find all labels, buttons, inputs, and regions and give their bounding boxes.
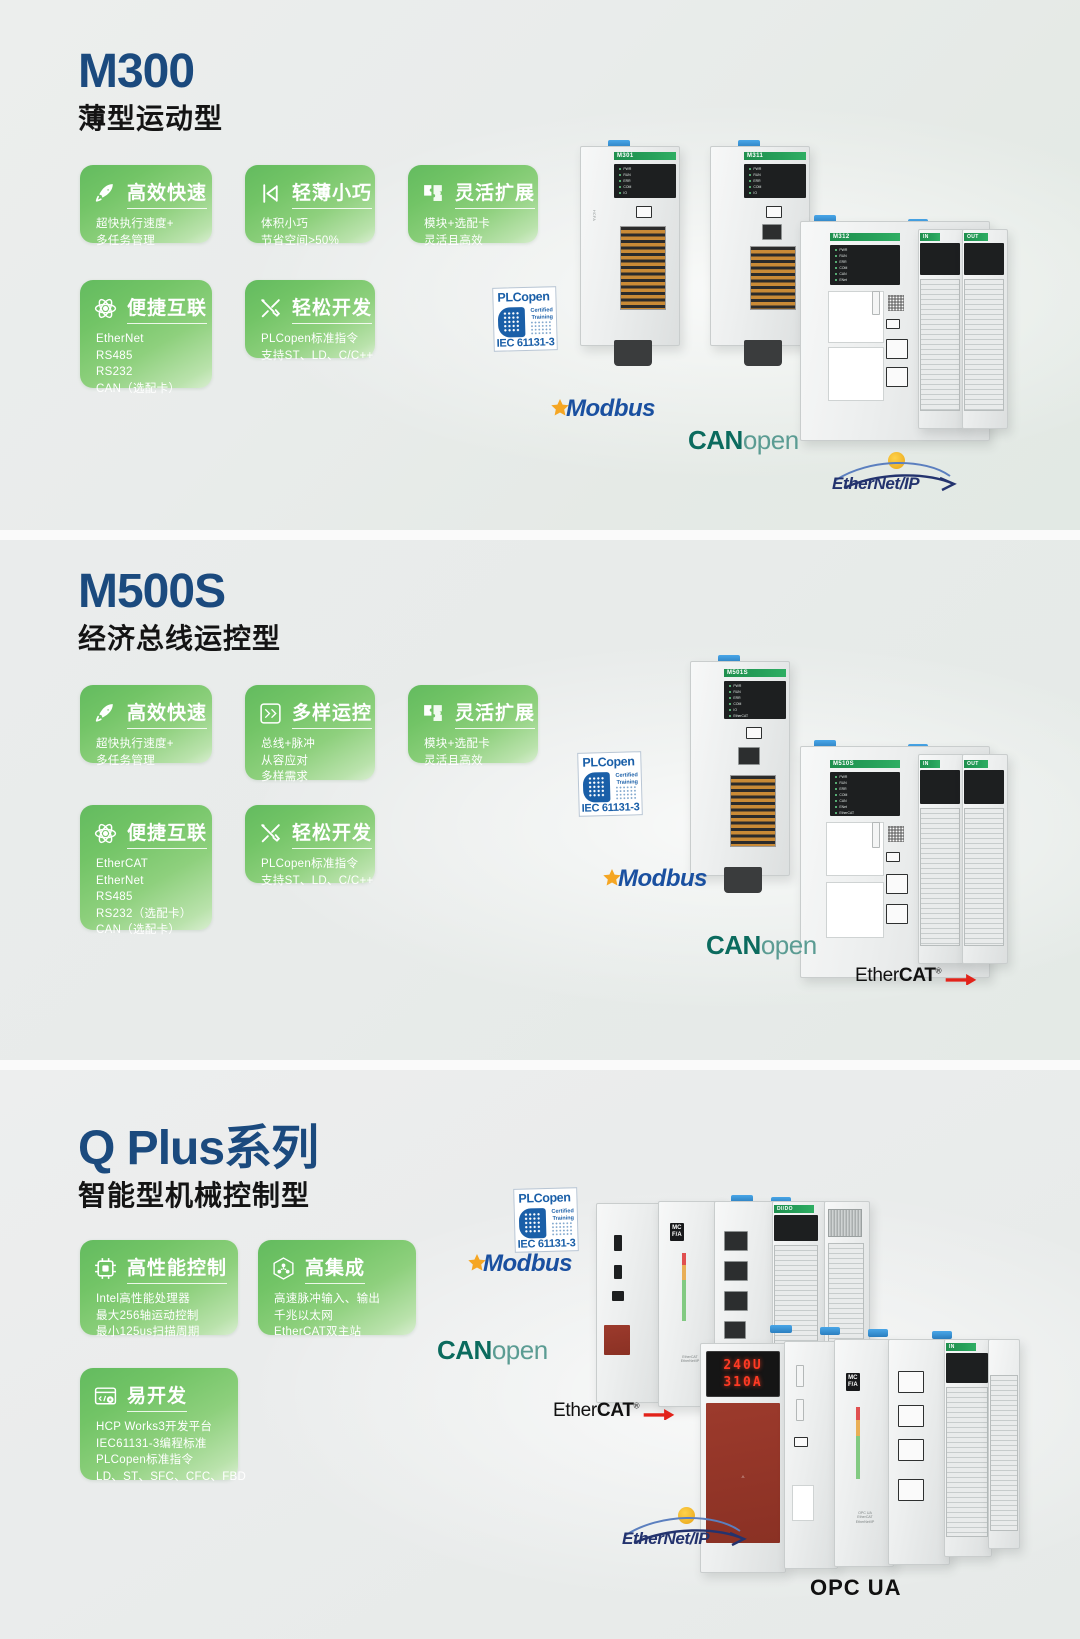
- card-title: 轻松开发: [292, 293, 372, 324]
- device-rj45-port: [724, 1291, 748, 1311]
- card-line: 超快执行速度+: [96, 736, 197, 753]
- atom-icon: [93, 296, 118, 321]
- device-rj45-port: [724, 1231, 748, 1251]
- device-sd-slot: [796, 1399, 804, 1421]
- ethercat-arrow-icon: [642, 1403, 676, 1420]
- io-led-panel: [964, 243, 1004, 275]
- card-line: 超快执行速度+: [96, 216, 197, 233]
- plcopen-grid-pattern: [551, 1221, 573, 1236]
- card-header: 高性能控制: [93, 1253, 223, 1284]
- ethercat-cat-text: CAT: [899, 965, 936, 986]
- canopen-open-text: open: [492, 1335, 548, 1365]
- card-line: EtherCAT双主站: [274, 1324, 401, 1341]
- ethernetip-logo: EtherNet/IP: [830, 450, 958, 496]
- device-qplus-lower: 240U 310A ⚠ MCF/A OPC UAEtherCATEtherNet…: [700, 1325, 1020, 1595]
- card-title: 高效快速: [127, 178, 207, 209]
- device-body-left: [596, 1203, 666, 1403]
- device-body-cpu: [834, 1339, 894, 1567]
- io-terminal-block: [964, 279, 1004, 411]
- puzzle-icon: [421, 181, 446, 206]
- card-line: RS485: [96, 348, 197, 365]
- canopen-can-text: CAN: [706, 930, 761, 960]
- card-lines: 体积小巧 节省空间>50%: [261, 216, 360, 249]
- device-qr-code: [888, 295, 904, 311]
- card-line: 灵活且高效: [424, 233, 523, 250]
- feature-card-connectivity[interactable]: 便捷互联 EtherNet RS485 RS232 CAN（选配卡）: [80, 280, 212, 388]
- card-lines: PLCopen标准指令 支持ST、LD、C/C++: [261, 331, 360, 364]
- display-voltage-value: 240U: [723, 1358, 762, 1373]
- feature-card-development[interactable]: 轻松开发 PLCopen标准指令 支持ST、LD、C/C++: [245, 280, 375, 358]
- device-usb-port: [766, 206, 782, 218]
- device-din-foot: [614, 340, 652, 366]
- device-rj45-port: [738, 747, 760, 765]
- card-lines: 超快执行速度+ 多任务管理: [96, 736, 197, 769]
- card-header: 高效快速: [93, 178, 197, 209]
- card-title: 高效快速: [127, 698, 207, 729]
- io-terminal-block: [920, 808, 960, 946]
- device-port: [612, 1291, 624, 1301]
- device-led-list: PWRRUNERRCOMCANENet: [832, 246, 850, 284]
- brochure-page: M300 薄型运动型 高效快速 超快执行速度+ 多任务管理: [0, 0, 1080, 1639]
- device-terminal-block: [750, 246, 796, 310]
- device-rj45-port: [886, 339, 908, 359]
- tools-icon: [258, 296, 283, 321]
- plcopen-wordmark: PLCopen: [514, 1188, 576, 1206]
- section-divider: [0, 530, 1080, 540]
- device-connector: [604, 1325, 630, 1355]
- card-line: EtherNet: [96, 873, 197, 890]
- tools-icon: [258, 821, 283, 846]
- section-m500s: M500S 经济总线运控型 高效快速 超快执行速度+ 多任务管理: [0, 540, 1080, 1060]
- modbus-logo: Modbus: [465, 1250, 572, 1278]
- device-terminal-block: [620, 226, 666, 310]
- modbus-wordmark: Modbus: [618, 865, 707, 893]
- card-line: 体积小巧: [261, 216, 360, 233]
- page-subtitle-m300: 薄型运动型: [78, 105, 223, 133]
- card-lines: 总线+脉冲 从容应对 多样需求: [261, 736, 360, 786]
- card-line: EtherCAT: [96, 856, 197, 873]
- io-module-label-out: OUT: [964, 760, 988, 768]
- device-rj45-port: [898, 1479, 924, 1501]
- device-terminal-block: [730, 775, 776, 847]
- modbus-logo: Modbus: [548, 395, 655, 423]
- device-led-bar: [682, 1253, 686, 1321]
- card-line: 模块+选配卡: [424, 216, 523, 233]
- device-rj45-port: [898, 1439, 924, 1461]
- device-port: [614, 1265, 622, 1279]
- device-usb-port: [886, 852, 900, 862]
- card-lines: PLCopen标准指令 支持ST、LD、C/C++: [261, 856, 360, 889]
- device-m312-assembly: M312 PWRRUNERRCOMCANENet IN OUT: [800, 215, 1070, 465]
- io-module-label-in: IN: [920, 233, 940, 241]
- device-din-foot: [724, 867, 762, 893]
- device-port: [614, 1235, 622, 1251]
- device-panel: [792, 1485, 814, 1521]
- card-lines: EtherNet RS485 RS232 CAN（选配卡）: [96, 331, 197, 397]
- atom-icon: [93, 821, 118, 846]
- feature-card-connectivity[interactable]: 便捷互联 EtherCAT EtherNet RS485 RS232（选配卡） …: [80, 805, 212, 930]
- card-line: 多任务管理: [96, 233, 197, 250]
- ethercat-wordmark: EtherCAT®: [553, 1400, 639, 1422]
- plcopen-certified-text: CertifiedTraining: [551, 1208, 574, 1222]
- device-body-io: [784, 1341, 838, 1569]
- io-terminal-block: [946, 1387, 988, 1537]
- io-terminal-block: [990, 1375, 1018, 1531]
- ethercat-registered-mark: ®: [936, 967, 942, 976]
- device-panel: [826, 882, 884, 938]
- page-title-m500s: M500S: [78, 568, 225, 616]
- card-line: 支持ST、LD、C/C++: [261, 348, 360, 365]
- card-title: 便捷互联: [127, 293, 207, 324]
- ethercat-logo: EtherCAT®: [553, 1400, 676, 1422]
- device-side-label: HCFA: [592, 210, 596, 221]
- card-title: 高集成: [305, 1253, 365, 1284]
- card-header: 易开发: [93, 1381, 223, 1412]
- device-sd-slot: [796, 1365, 804, 1387]
- card-line: EtherNet: [96, 331, 197, 348]
- card-line: PLCopen标准指令: [261, 856, 360, 873]
- card-line: 多样需求: [261, 769, 360, 786]
- plcopen-certification-logo: PLCopen CertifiedTraining IEC 61131-3: [492, 286, 558, 352]
- ethernetip-wordmark: EtherNet/IP: [832, 474, 919, 494]
- card-lines: 模块+选配卡 灵活且高效: [424, 216, 523, 249]
- card-line: HCP Works3开发平台: [96, 1419, 223, 1436]
- plcopen-grid-pattern: [530, 320, 552, 335]
- card-title: 易开发: [127, 1381, 187, 1412]
- feature-card-expansion[interactable]: 灵活扩展 模块+选配卡 灵活且高效: [408, 685, 538, 763]
- feature-card-expansion[interactable]: 灵活扩展 模块+选配卡 灵活且高效: [408, 165, 538, 243]
- page-title-qplus: Q Plus系列: [78, 1125, 318, 1173]
- opcua-logo: OPC UA: [810, 1575, 902, 1601]
- device-rj45-port: [898, 1371, 924, 1393]
- card-header: 便捷互联: [93, 293, 197, 324]
- canopen-logo: CANopen: [437, 1335, 548, 1366]
- device-label: M311: [744, 152, 806, 160]
- plcopen-dot-pattern: [588, 776, 606, 797]
- device-display-screen: 240U 310A: [706, 1351, 780, 1397]
- device-led-bar: [856, 1407, 860, 1479]
- ethercat-arrow-icon: [944, 968, 978, 985]
- rocket-icon: [93, 181, 118, 206]
- device-din-foot: [744, 340, 782, 366]
- io-vent-grill: [828, 1209, 862, 1237]
- card-header: 高效快速: [93, 698, 197, 729]
- device-mcfa-badge: MCF/A: [846, 1373, 860, 1391]
- section-m300: M300 薄型运动型 高效快速 超快执行速度+ 多任务管理: [0, 0, 1080, 530]
- plcopen-iec-text: IEC 61131-3: [579, 801, 641, 815]
- card-line: PLCopen标准指令: [96, 1452, 223, 1469]
- page-title-m300: M300: [78, 48, 194, 96]
- device-led-list: PWRRUNERRCOMIOEtherCAT: [726, 682, 751, 720]
- motion-icon: [258, 701, 283, 726]
- device-panel: [828, 347, 884, 401]
- device-m501s: M501S PWRRUNERRCOMIOEtherCAT: [690, 655, 810, 895]
- device-rj45-port: [886, 367, 908, 387]
- plcopen-dot-pattern: [503, 311, 521, 332]
- canopen-can-text: CAN: [688, 425, 743, 455]
- plcopen-grid-pattern: [615, 785, 637, 800]
- din-clip: [932, 1331, 952, 1339]
- io-led-panel: [920, 770, 960, 804]
- device-warning-label: ⚠: [720, 1475, 766, 1479]
- io-module-label: IN: [946, 1343, 976, 1351]
- plcopen-certification-logo: PLCopen CertifiedTraining IEC 61131-3: [577, 751, 643, 817]
- modbus-wordmark: Modbus: [483, 1250, 572, 1278]
- io-led-panel: [964, 770, 1004, 804]
- card-header: 轻松开发: [258, 293, 360, 324]
- device-rj45-port: [898, 1405, 924, 1427]
- ethercat-logo: EtherCAT®: [855, 965, 978, 987]
- card-line: RS485: [96, 889, 197, 906]
- card-header: 轻松开发: [258, 818, 360, 849]
- device-rj45-port: [886, 874, 908, 894]
- card-header: 轻薄小巧: [258, 178, 360, 209]
- card-line: Intel高性能处理器: [96, 1291, 223, 1308]
- card-title: 便捷互联: [127, 818, 207, 849]
- canopen-can-text: CAN: [437, 1335, 492, 1365]
- ethercat-registered-mark: ®: [634, 1402, 640, 1411]
- device-rj45-port: [762, 224, 782, 240]
- card-line: 千兆以太网: [274, 1308, 401, 1325]
- plcopen-certification-logo: PLCopen CertifiedTraining IEC 61131-3: [513, 1187, 579, 1253]
- plcopen-certified-text: CertifiedTraining: [615, 772, 638, 786]
- plcopen-iec-text: IEC 61131-3: [494, 336, 556, 350]
- device-usb-port: [746, 727, 762, 739]
- din-clip: [770, 1325, 792, 1333]
- card-header: 便捷互联: [93, 818, 197, 849]
- card-header: 灵活扩展: [421, 698, 523, 729]
- code-icon: [93, 1384, 118, 1409]
- feature-card-easy-development[interactable]: 易开发 HCP Works3开发平台 IEC61131-3编程标准 PLCope…: [80, 1368, 238, 1480]
- device-label: M510S: [830, 760, 900, 768]
- card-header: 灵活扩展: [421, 178, 523, 209]
- card-line: PLCopen标准指令: [261, 331, 360, 348]
- section-qplus: Q Plus系列 智能型机械控制型 高性能控制 Intel高性能处理器 最大25…: [0, 1070, 1080, 1639]
- card-title: 轻薄小巧: [292, 178, 372, 209]
- device-usb-port: [794, 1437, 808, 1447]
- card-title: 灵活扩展: [455, 178, 535, 209]
- io-led-panel: [774, 1215, 818, 1241]
- device-led-list: PWRRUNERRCOMIO: [616, 165, 634, 197]
- card-line: CAN（选配卡）: [96, 381, 197, 398]
- device-led-list: PWRRUNERRCOMIO: [746, 165, 764, 197]
- device-label: M301: [614, 152, 676, 160]
- slim-icon: [258, 181, 283, 206]
- ethernetip-wordmark: EtherNet/IP: [622, 1529, 709, 1549]
- io-terminal-block: [920, 279, 960, 411]
- din-clip: [868, 1329, 888, 1337]
- plcopen-iec-text: IEC 61131-3: [515, 1237, 577, 1251]
- section-divider: [0, 1060, 1080, 1070]
- canopen-logo: CANopen: [688, 425, 799, 456]
- device-label: M312: [830, 233, 900, 241]
- card-lines: Intel高性能处理器 最大256轴运动控制 最小125us扫描周期: [96, 1291, 223, 1341]
- plcopen-wordmark: PLCopen: [493, 287, 555, 305]
- card-lines: 高速脉冲输入、输出 千兆以太网 EtherCAT双主站: [274, 1291, 401, 1341]
- card-line: 灵活且高效: [424, 753, 523, 770]
- device-mcfa-badge: MCF/A: [670, 1223, 684, 1241]
- card-lines: 模块+选配卡 灵活且高效: [424, 736, 523, 769]
- plcopen-wordmark: PLCopen: [578, 752, 640, 770]
- card-lines: 超快执行速度+ 多任务管理: [96, 216, 197, 249]
- card-line: 支持ST、LD、C/C++: [261, 873, 360, 890]
- canopen-open-text: open: [761, 930, 817, 960]
- ethernetip-logo: EtherNet/IP: [620, 1505, 748, 1551]
- feature-card-performance[interactable]: 高性能控制 Intel高性能处理器 最大256轴运动控制 最小125us扫描周期: [80, 1240, 238, 1335]
- device-rj45-port: [886, 904, 908, 924]
- rocket-icon: [93, 701, 118, 726]
- card-line: 总线+脉冲: [261, 736, 360, 753]
- device-sd-slot: [872, 291, 880, 315]
- card-line: CAN（选配卡）: [96, 922, 197, 939]
- card-title: 轻松开发: [292, 818, 372, 849]
- card-lines: HCP Works3开发平台 IEC61131-3编程标准 PLCopen标准指…: [96, 1419, 223, 1485]
- io-led-panel: [946, 1353, 988, 1383]
- card-line: 从容应对: [261, 753, 360, 770]
- device-m301: M301 PWRRUNERRCOMIO HCFA: [580, 140, 700, 370]
- card-title: 灵活扩展: [455, 698, 535, 729]
- feature-card-integration[interactable]: 高集成 高速脉冲输入、输出 千兆以太网 EtherCAT双主站: [258, 1240, 416, 1335]
- card-line: 节省空间>50%: [261, 233, 360, 250]
- page-subtitle-m500s: 经济总线运控型: [78, 625, 281, 653]
- integration-icon: [271, 1256, 296, 1281]
- modbus-wordmark: Modbus: [566, 395, 655, 423]
- io-module-label: DI/DO: [774, 1205, 814, 1213]
- device-protocol-label: OPC UAEtherCATEtherNet/IP: [836, 1511, 894, 1524]
- card-header: 高集成: [271, 1253, 401, 1284]
- device-rj45-port: [724, 1261, 748, 1281]
- feature-card-slim[interactable]: 轻薄小巧 体积小巧 节省空间>50%: [245, 165, 375, 243]
- device-sd-slot: [872, 822, 880, 848]
- card-line: LD、ST、SFC、CFC、FBD: [96, 1469, 223, 1486]
- canopen-open-text: open: [743, 425, 799, 455]
- ethercat-cat-text: CAT: [597, 1400, 634, 1421]
- card-title: 多样运控: [292, 698, 372, 729]
- canopen-logo: CANopen: [706, 930, 817, 961]
- card-lines: EtherCAT EtherNet RS485 RS232（选配卡） CAN（选…: [96, 856, 197, 939]
- device-m510s-assembly: M510S PWRRUNERRCOMCANENetEtherCAT IN OUT: [800, 740, 1070, 1000]
- card-line: RS232: [96, 364, 197, 381]
- modbus-logo: Modbus: [600, 865, 707, 893]
- io-module-label-in: IN: [920, 760, 940, 768]
- io-module-label-out: OUT: [964, 233, 988, 241]
- feature-card-motion[interactable]: 多样运控 总线+脉冲 从容应对 多样需求: [245, 685, 375, 780]
- plcopen-certified-text: CertifiedTraining: [530, 307, 553, 321]
- card-title: 高性能控制: [127, 1253, 227, 1284]
- card-line: 模块+选配卡: [424, 736, 523, 753]
- device-qr-code: [888, 826, 904, 842]
- puzzle-icon: [421, 701, 446, 726]
- page-subtitle-qplus: 智能型机械控制型: [78, 1182, 310, 1210]
- device-label: M501S: [724, 669, 786, 677]
- din-clip: [820, 1327, 840, 1335]
- card-line: RS232（选配卡）: [96, 906, 197, 923]
- feature-card-efficiency[interactable]: 高效快速 超快执行速度+ 多任务管理: [80, 165, 212, 243]
- ethercat-wordmark: EtherCAT®: [855, 965, 941, 987]
- display-current-value: 310A: [723, 1375, 762, 1390]
- plcopen-dot-pattern: [524, 1212, 542, 1233]
- card-line: 最小125us扫描周期: [96, 1324, 223, 1341]
- io-led-panel: [920, 243, 960, 275]
- card-line: 最大256轴运动控制: [96, 1308, 223, 1325]
- card-line: 多任务管理: [96, 753, 197, 770]
- card-header: 多样运控: [258, 698, 360, 729]
- device-usb-port: [636, 206, 652, 218]
- device-usb-port: [886, 319, 900, 329]
- io-terminal-block: [964, 808, 1004, 946]
- feature-card-development[interactable]: 轻松开发 PLCopen标准指令 支持ST、LD、C/C++: [245, 805, 375, 883]
- card-line: 高速脉冲输入、输出: [274, 1291, 401, 1308]
- device-led-list: PWRRUNERRCOMCANENetEtherCAT: [832, 773, 857, 817]
- chip-icon: [93, 1256, 118, 1281]
- feature-card-efficiency[interactable]: 高效快速 超快执行速度+ 多任务管理: [80, 685, 212, 763]
- card-line: IEC61131-3编程标准: [96, 1436, 223, 1453]
